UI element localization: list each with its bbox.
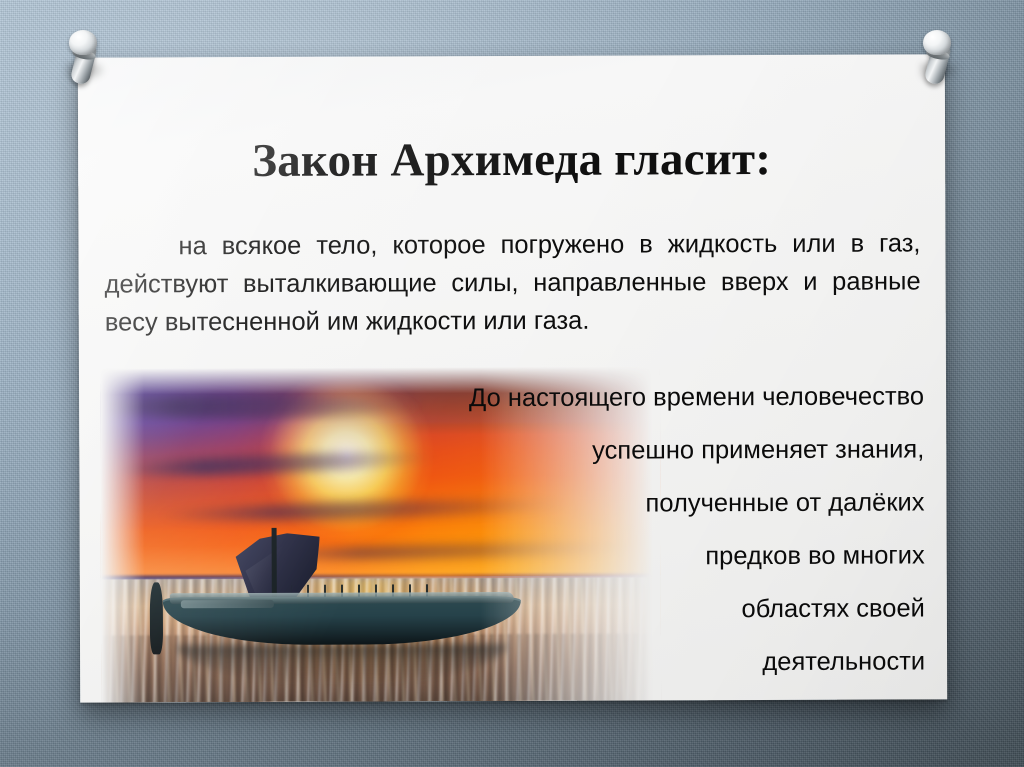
paragraph2-line: областях своей: [285, 582, 925, 637]
boat-stem-post: [150, 582, 163, 654]
humanity-knowledge-paragraph: До настоящего времени человечество успеш…: [284, 370, 925, 690]
pin-head: [923, 30, 951, 55]
pin-head: [69, 30, 97, 55]
paragraph2-line: деятельности: [285, 635, 925, 690]
pushpin-icon-left[interactable]: [62, 28, 110, 86]
pushpin-icon-right[interactable]: [916, 28, 964, 86]
paragraph2-line: полученные от далёких: [284, 476, 924, 531]
slide-stage: Закон Архимеда гласит: на всякое тело, к…: [0, 0, 1024, 767]
slide-card: Закон Архимеда гласит: на всякое тело, к…: [78, 54, 947, 702]
page-title: Закон Архимеда гласит:: [78, 135, 945, 187]
archimedes-law-paragraph: на всякое тело, которое погружено в жидк…: [104, 224, 920, 341]
paragraph2-line: успешно применяет знания,: [284, 423, 924, 478]
boat-thwart: [180, 600, 273, 608]
paragraph2-line: До настоящего времени человечество: [284, 370, 924, 425]
paragraph2-line: предков во многих: [285, 529, 925, 584]
